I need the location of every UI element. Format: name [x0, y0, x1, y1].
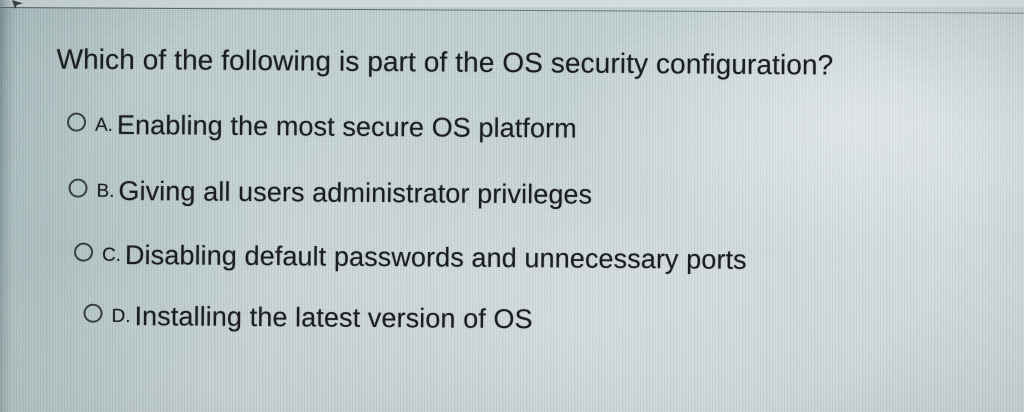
quiz-option-a[interactable]: A. Enabling the most secure OS platform: [67, 110, 577, 145]
option-text-b: Giving all users administrator privilege…: [118, 176, 592, 211]
option-letter-b: B.: [96, 181, 114, 203]
radio-button-c-icon[interactable]: [74, 243, 93, 262]
option-letter-d: D.: [111, 306, 130, 328]
quiz-screenshot: Which of the following is part of the OS…: [0, 0, 1024, 412]
option-text-d: Installing the latest version of OS: [134, 301, 532, 335]
quiz-option-d[interactable]: D. Installing the latest version of OS: [83, 301, 532, 336]
question-text: Which of the following is part of the OS…: [56, 44, 833, 81]
option-letter-a: A.: [95, 115, 113, 137]
quiz-option-c[interactable]: C. Disabling default passwords and unnec…: [74, 240, 747, 276]
radio-button-b-icon[interactable]: [68, 179, 87, 198]
option-text-a: Enabling the most secure OS platform: [117, 110, 577, 145]
radio-button-a-icon[interactable]: [67, 113, 86, 132]
quiz-option-b[interactable]: B. Giving all users administrator privil…: [68, 176, 592, 211]
radio-button-d-icon[interactable]: [83, 304, 102, 323]
option-text-c: Disabling default passwords and unnecess…: [125, 240, 747, 276]
option-letter-c: C.: [102, 245, 121, 267]
quiz-content: Which of the following is part of the OS…: [0, 0, 1024, 412]
